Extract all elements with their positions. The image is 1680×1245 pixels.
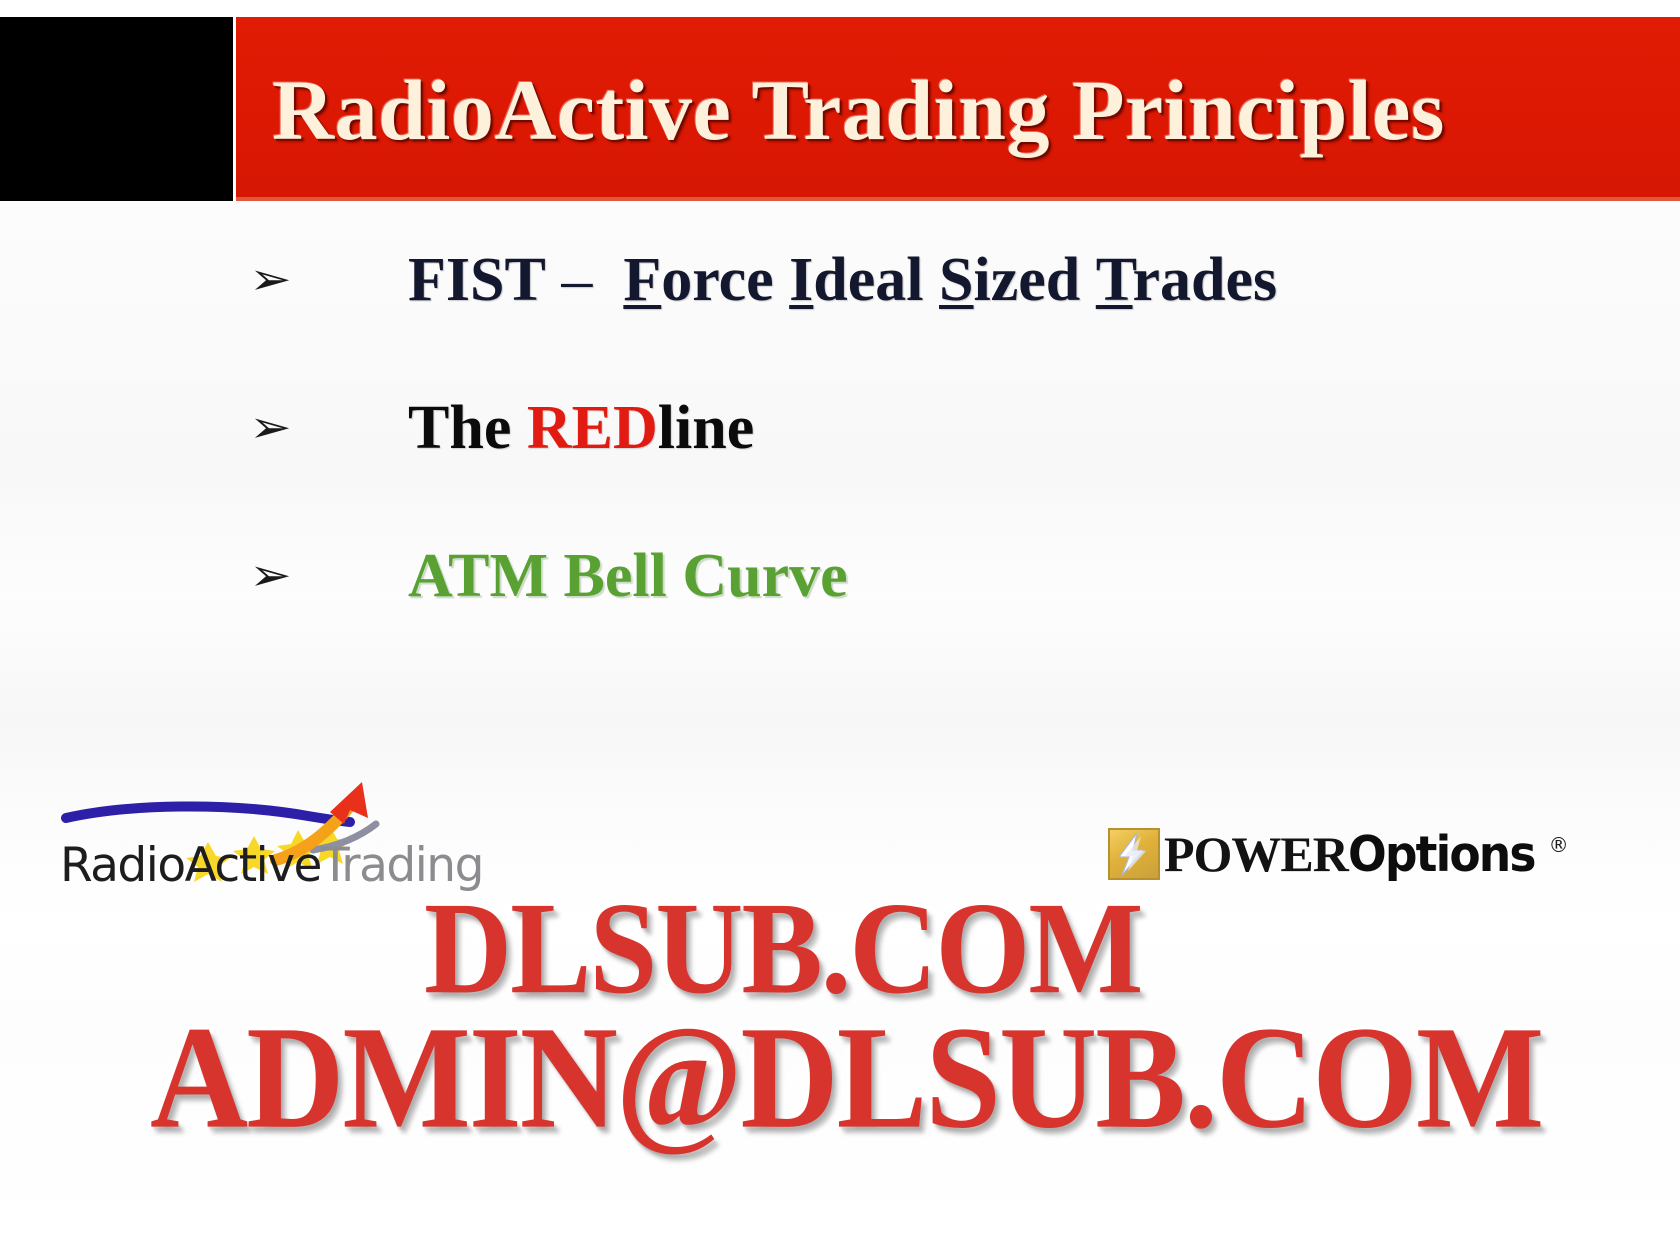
fist-rest-force: orce <box>661 246 773 314</box>
fist-initial-s: S <box>939 246 973 314</box>
fist-dash: – <box>561 246 592 314</box>
redline-prefix: The <box>408 394 527 462</box>
list-item: ➢ ATM Bell Curve <box>0 528 1680 676</box>
options-wordmark: Options <box>1348 830 1535 879</box>
watermark-email: ADMIN@DLSUB.COM <box>150 1005 1542 1152</box>
list-item: ➢ FIST – Force Ideal Sized Trades <box>0 232 1680 380</box>
redline-highlight: RED <box>527 394 658 462</box>
list-item: ➢ The REDline <box>0 380 1680 528</box>
radioactive-trading-wordmark: RadioActiveTrading <box>60 840 483 892</box>
bullet-text-fist: FIST – Force Ideal Sized Trades <box>408 232 1277 328</box>
watermark-site: DLSUB.COM <box>424 883 1141 1015</box>
radioactive-word: RadioActive <box>60 838 321 893</box>
redline-suffix: line <box>658 394 754 462</box>
fist-initial-t: T <box>1096 246 1133 314</box>
arrow-bullet-icon: ➢ <box>249 406 291 450</box>
fist-acronym: FIST <box>408 246 546 314</box>
arrow-bullet-icon: ➢ <box>249 258 291 302</box>
fist-initial-f: F <box>623 246 661 314</box>
registered-trademark-symbol: ® <box>1549 833 1569 857</box>
fist-rest-sized: ized <box>974 246 1081 314</box>
bullet-text-redline: The REDline <box>408 380 754 476</box>
slide-canvas: RadioActive Trading Principles ➢ FIST – … <box>0 0 1680 1245</box>
arrow-bullet-icon: ➢ <box>249 554 291 598</box>
fist-rest-trades: rades <box>1133 246 1278 314</box>
bullet-list: ➢ FIST – Force Ideal Sized Trades ➢ The … <box>0 232 1680 676</box>
page-title: RadioActive Trading Principles <box>272 58 1672 162</box>
header-black-accent-block <box>0 17 233 201</box>
bullet-text-atm-bell-curve: ATM Bell Curve <box>408 528 848 624</box>
power-wordmark: POWER <box>1164 829 1348 879</box>
fist-rest-ideal: deal <box>813 246 923 314</box>
poweroptions-logo: POWER Options ® <box>1108 823 1569 885</box>
fist-initial-i: I <box>789 246 813 314</box>
lightning-bolt-icon <box>1108 828 1160 880</box>
radioactive-trading-logo: RadioActiveTrading <box>58 772 458 890</box>
